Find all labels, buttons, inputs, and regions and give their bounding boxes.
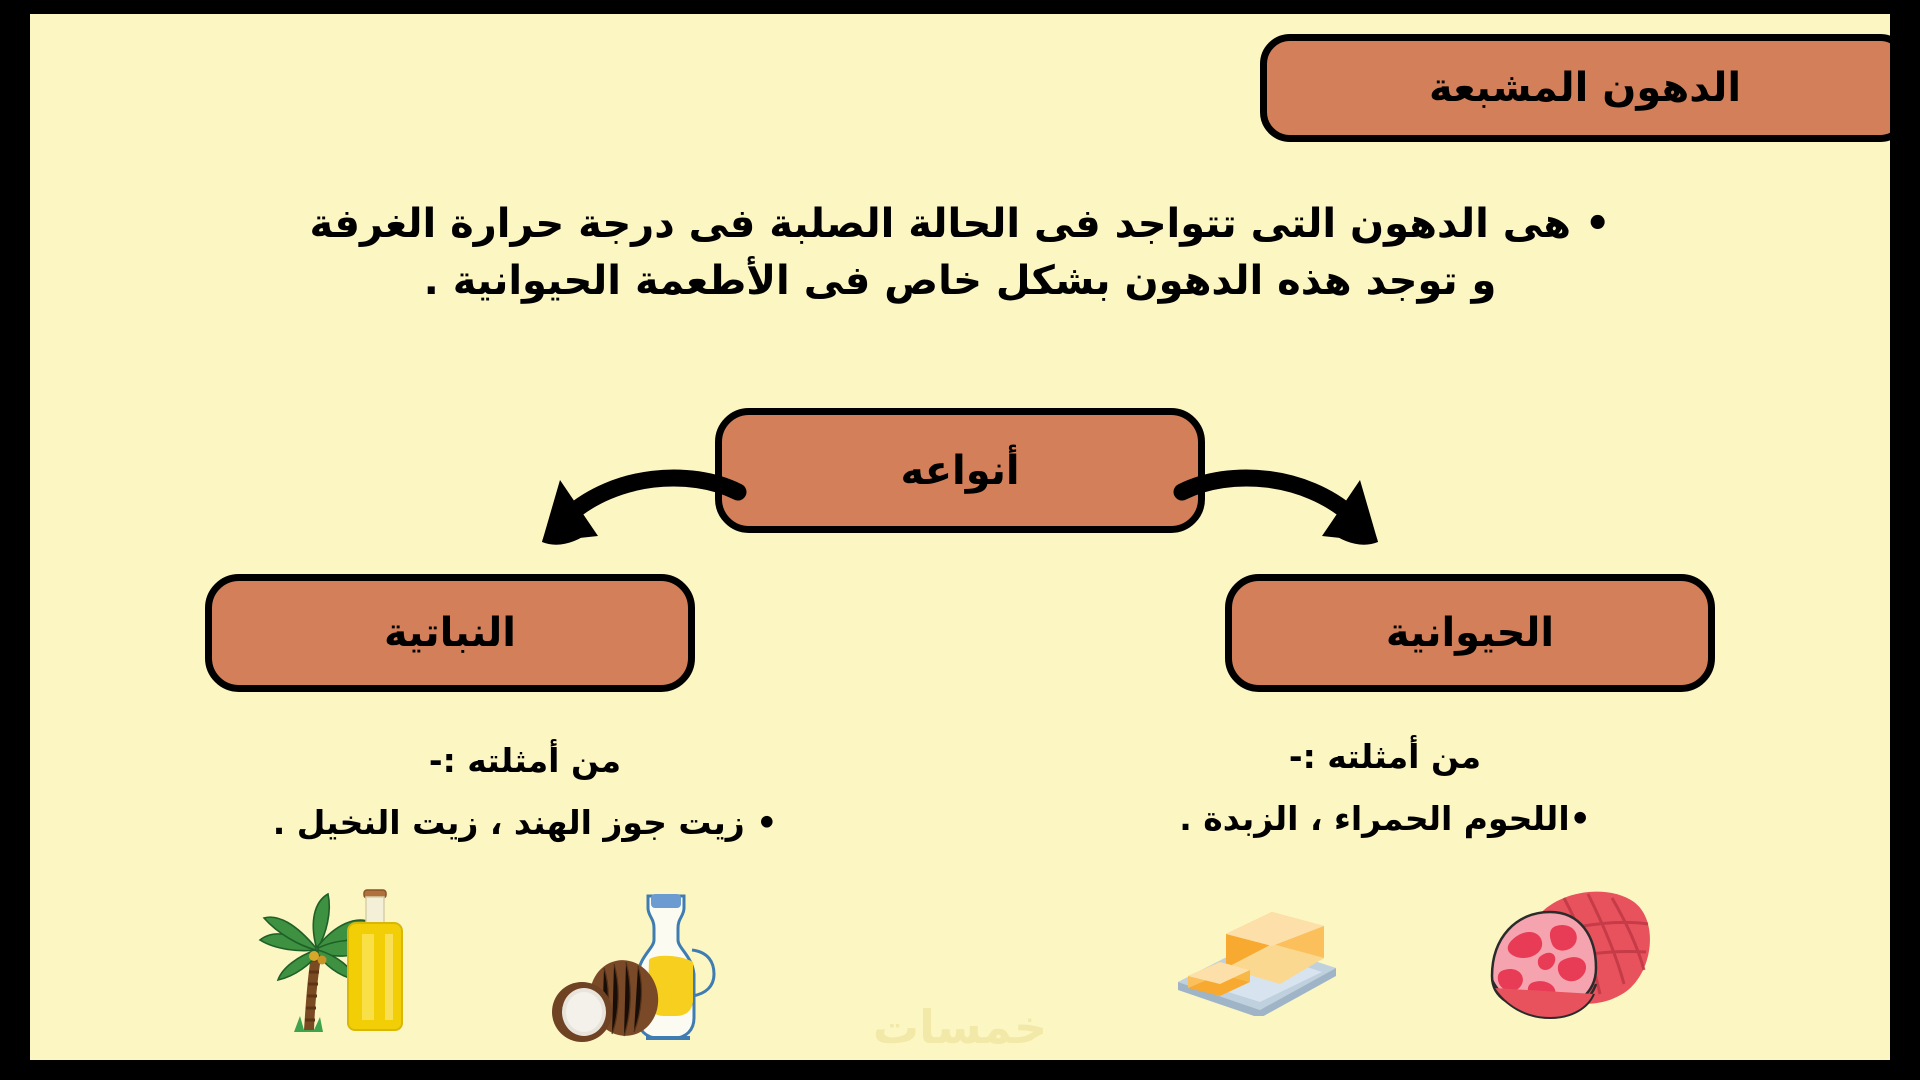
examples-plant-item: • زيت جوز الهند ، زيت النخيل . bbox=[180, 798, 870, 848]
branch-box-plant: النباتية bbox=[205, 574, 695, 692]
branch-box-animal: الحيوانية bbox=[1225, 574, 1715, 692]
slide-frame: الدهون المشبعة • هى الدهون التى تتواجد ف… bbox=[0, 0, 1920, 1080]
curved-arrow-right-icon bbox=[1170, 444, 1400, 564]
red-meat-roast-icon bbox=[1468, 876, 1668, 1026]
intro-line-1: • هى الدهون التى تتواجد فى الحالة الصلبة… bbox=[90, 196, 1830, 253]
examples-plant: من أمثلته :- • زيت جوز الهند ، زيت النخي… bbox=[180, 736, 870, 847]
coconut-oil-carafe-icon bbox=[548, 890, 743, 1045]
butter-dish-icon bbox=[1160, 896, 1350, 1016]
examples-animal: من أمثلته :- •اللحوم الحمراء ، الزبدة . bbox=[1040, 732, 1730, 843]
examples-animal-item: •اللحوم الحمراء ، الزبدة . bbox=[1040, 794, 1730, 844]
page-title: الدهون المشبعة bbox=[1260, 34, 1890, 142]
slide-canvas: الدهون المشبعة • هى الدهون التى تتواجد ف… bbox=[30, 14, 1890, 1060]
examples-animal-heading: من أمثلته :- bbox=[1040, 732, 1730, 782]
curved-arrow-left-icon bbox=[520, 444, 750, 564]
examples-plant-heading: من أمثلته :- bbox=[180, 736, 870, 786]
types-box: أنواعه bbox=[715, 408, 1205, 533]
intro-paragraph: • هى الدهون التى تتواجد فى الحالة الصلبة… bbox=[30, 196, 1890, 310]
intro-line-2: و توجد هذه الدهون بشكل خاص فى الأطعمة ال… bbox=[90, 253, 1830, 310]
palm-tree-oil-bottle-icon bbox=[252, 880, 452, 1045]
watermark: خمسات bbox=[873, 1000, 1047, 1054]
